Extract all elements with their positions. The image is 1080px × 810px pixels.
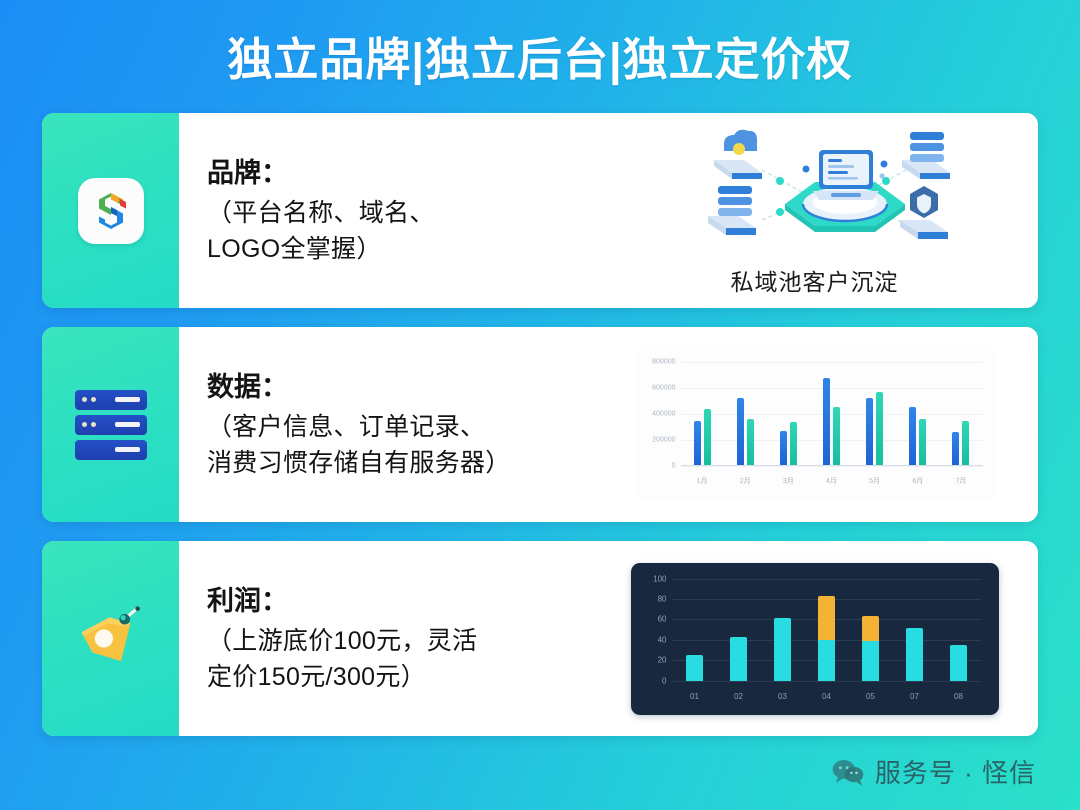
light-chart-bar-group: [767, 362, 810, 465]
light-chart-bar-group: [896, 362, 939, 465]
dark-chart-bar: [906, 628, 923, 680]
card-brand-desc-line1: （平台名称、域名、: [207, 195, 607, 231]
card-data: 数据： （客户信息、订单记录、 消费习惯存储自有服务器） 02000004000…: [42, 327, 1038, 522]
light-chart-x-label: 7月: [939, 476, 982, 486]
dark-chart-bar-segment-top: [818, 596, 835, 640]
server-led: [91, 422, 96, 427]
light-chart-bar: [952, 432, 959, 464]
dark-chart-x-label: 08: [937, 692, 981, 701]
dark-chart-bar-segment-base: [818, 640, 835, 681]
dark-chart-y-label: 20: [658, 656, 667, 665]
network-illustration-caption: 私域池客户沉淀: [670, 263, 960, 297]
title-bar: 独立品牌|独立后台|独立定价权: [0, 0, 1080, 110]
light-chart-gridline: [681, 466, 983, 467]
light-chart-y-label: 0: [672, 462, 676, 469]
page-title: 独立品牌|独立后台|独立定价权: [227, 23, 852, 88]
dark-chart-x-label: 02: [717, 692, 761, 701]
card-data-text: 数据： （客户信息、订单记录、 消费习惯存储自有服务器）: [207, 368, 607, 482]
brand-logo-icon: [78, 178, 144, 244]
card-data-desc-line1: （客户信息、订单记录、: [207, 409, 607, 445]
light-chart-bar: [919, 419, 926, 464]
dark-chart-bar-segment-base: [686, 655, 703, 681]
dark-chart-gridline: [673, 681, 981, 682]
light-chart-x-label: 2月: [724, 476, 767, 486]
card-profit-icon-panel: [42, 541, 179, 736]
light-chart-bar-group: [853, 362, 896, 465]
light-chart-plot: 0200000400000600000800000: [681, 362, 983, 466]
dark-chart-bar-group: [717, 579, 761, 681]
dark-chart-bar-segment-base: [862, 641, 879, 681]
light-chart-bar: [780, 431, 787, 464]
light-chart-bar: [694, 421, 701, 465]
dark-chart-bars: [673, 579, 981, 681]
dark-chart-y-label: 100: [653, 574, 666, 583]
dark-chart-bar: [862, 616, 879, 680]
light-chart-bar: [790, 422, 797, 464]
card-profit-text: 利润： （上游底价100元，灵活 定价150元/300元）: [207, 582, 607, 696]
light-chart-bar: [962, 421, 969, 465]
light-chart-x-label: 5月: [853, 476, 896, 486]
card-brand-desc-line2: LOGO全掌握）: [207, 231, 607, 267]
dark-chart-y-label: 0: [662, 676, 666, 685]
dark-chart-bar-segment-base: [950, 645, 967, 681]
dark-chart-bar-group: [673, 579, 717, 681]
dark-chart-x-label: 03: [761, 692, 805, 701]
card-profit-desc-line1: （上游底价100元，灵活: [207, 623, 607, 659]
dark-chart-x-labels: 01020304050708: [673, 692, 981, 701]
card-brand-icon-panel: [42, 113, 179, 308]
server-led: [82, 422, 87, 427]
light-chart-bar-group: [810, 362, 853, 465]
server-bar-1: [75, 390, 147, 410]
light-chart-bar: [737, 398, 744, 465]
light-chart-bar-group: [939, 362, 982, 465]
watermark: 服务号 · 怪信: [831, 753, 1036, 790]
price-tag-icon: [73, 601, 149, 677]
dark-chart-bar: [818, 596, 835, 681]
dark-chart-bar: [950, 645, 967, 681]
card-brand: 品牌： （平台名称、域名、 LOGO全掌握）: [42, 113, 1038, 308]
card-data-body: 数据： （客户信息、订单记录、 消费习惯存储自有服务器） 02000004000…: [179, 327, 1038, 522]
card-profit-media: 020406080100 01020304050708: [607, 563, 1028, 715]
card-data-desc: （客户信息、订单记录、 消费习惯存储自有服务器）: [207, 409, 607, 482]
card-profit-body: 利润： （上游底价100元，灵活 定价150元/300元） 0204060801…: [179, 541, 1038, 736]
light-chart-y-label: 600000: [652, 384, 675, 391]
server-bar-2: [75, 415, 147, 435]
light-chart-x-label: 4月: [810, 476, 853, 486]
light-chart-bar-group: [724, 362, 767, 465]
dark-chart-bar-group: [805, 579, 849, 681]
card-profit-desc-line2: 定价150元/300元）: [207, 659, 607, 695]
card-profit-heading: 利润：: [207, 582, 607, 621]
card-data-icon-panel: [42, 327, 179, 522]
dark-chart-bar-segment-base: [774, 618, 791, 680]
dark-chart-bar-group: [761, 579, 805, 681]
dark-chart-bar: [730, 637, 747, 681]
card-brand-media: 私域池客户沉淀: [607, 124, 1028, 297]
light-chart-x-label: 3月: [767, 476, 810, 486]
network-diagram-icon: [670, 124, 960, 256]
light-chart-bar: [704, 409, 711, 464]
server-led: [91, 397, 96, 402]
poster-root: 独立品牌|独立后台|独立定价权 品牌：: [0, 0, 1080, 810]
light-chart-bar: [866, 398, 873, 465]
light-chart-bar-group: [681, 362, 724, 465]
dark-chart-bar: [774, 618, 791, 680]
dark-chart-x-label: 04: [805, 692, 849, 701]
server-slot: [115, 447, 140, 452]
light-bar-chart: 0200000400000600000800000 1月2月3月4月5月6月7月: [635, 350, 995, 500]
wechat-icon: [831, 758, 865, 786]
dark-chart-bar-segment-base: [906, 628, 923, 680]
dark-chart-bar-segment-top: [862, 616, 879, 640]
card-brand-heading: 品牌：: [207, 154, 607, 193]
light-chart-axis: [681, 465, 983, 466]
light-chart-x-label: 1月: [681, 476, 724, 486]
light-chart-y-label: 400000: [652, 410, 675, 417]
server-rack-icon: [75, 390, 147, 460]
dark-chart-bar-group: [937, 579, 981, 681]
card-brand-desc: （平台名称、域名、 LOGO全掌握）: [207, 195, 607, 268]
dark-chart-y-label: 60: [658, 615, 667, 624]
light-chart-x-label: 6月: [896, 476, 939, 486]
light-chart-bar: [823, 378, 830, 464]
light-chart-bar: [876, 392, 883, 464]
dark-chart-bar: [686, 655, 703, 681]
dark-bar-chart: 020406080100 01020304050708: [631, 563, 999, 715]
dark-chart-x-label: 07: [893, 692, 937, 701]
light-chart-y-label: 800000: [652, 358, 675, 365]
card-data-desc-line2: 消费习惯存储自有服务器）: [207, 445, 607, 481]
dark-chart-bar-group: [849, 579, 893, 681]
dark-chart-y-label: 80: [658, 594, 667, 603]
light-chart-y-label: 200000: [652, 436, 675, 443]
light-chart-bar: [833, 407, 840, 465]
light-chart-bar: [909, 407, 916, 465]
card-data-media: 0200000400000600000800000 1月2月3月4月5月6月7月: [607, 350, 1028, 500]
light-chart-x-labels: 1月2月3月4月5月6月7月: [681, 476, 983, 486]
server-bar-3: [75, 440, 147, 460]
watermark-text: 服务号 · 怪信: [875, 753, 1036, 790]
light-chart-bar: [747, 419, 754, 464]
dark-chart-x-label: 01: [673, 692, 717, 701]
dark-chart-bar-group: [893, 579, 937, 681]
network-illustration: 私域池客户沉淀: [670, 124, 960, 297]
server-slot: [115, 422, 140, 427]
card-brand-body: 品牌： （平台名称、域名、 LOGO全掌握）: [179, 113, 1038, 308]
dark-chart-bar-segment-base: [730, 637, 747, 681]
card-brand-text: 品牌： （平台名称、域名、 LOGO全掌握）: [207, 154, 607, 268]
light-chart-bars: [681, 362, 983, 465]
dark-chart-y-label: 40: [658, 635, 667, 644]
card-list: 品牌： （平台名称、域名、 LOGO全掌握）: [42, 113, 1038, 736]
dark-chart-plot: 020406080100: [673, 579, 981, 681]
card-data-heading: 数据：: [207, 368, 607, 407]
card-profit: 利润： （上游底价100元，灵活 定价150元/300元） 0204060801…: [42, 541, 1038, 736]
server-slot: [115, 397, 140, 402]
card-profit-desc: （上游底价100元，灵活 定价150元/300元）: [207, 623, 607, 696]
server-led: [82, 397, 87, 402]
dark-chart-x-label: 05: [849, 692, 893, 701]
